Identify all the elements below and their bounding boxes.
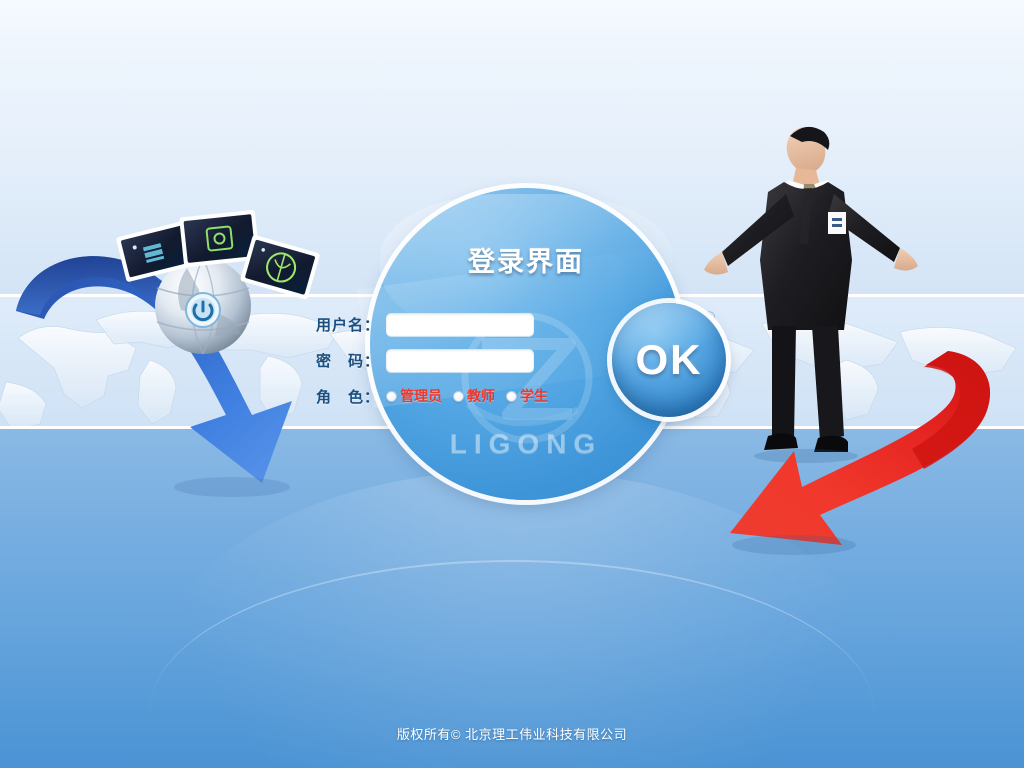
- ligong-wordmark: LIGONG: [370, 428, 682, 460]
- username-row: 用户名：: [300, 311, 534, 337]
- role-label: 角 色：: [300, 386, 386, 407]
- panel-title: 登录界面: [370, 240, 682, 279]
- role-radio-group: 管理员 教师 学生: [386, 386, 555, 406]
- role-option-admin[interactable]: 管理员: [386, 386, 442, 406]
- radio-dot-icon[interactable]: [386, 391, 397, 402]
- role-option-admin-label: 管理员: [400, 386, 442, 406]
- username-input[interactable]: [386, 313, 534, 336]
- radio-dot-icon[interactable]: [453, 391, 464, 402]
- role-option-student-label: 学生: [520, 386, 548, 406]
- username-label: 用户名：: [300, 314, 386, 335]
- password-input[interactable]: [386, 349, 534, 372]
- password-label: 密 码：: [300, 350, 386, 371]
- role-row: 角 色： 管理员 教师 学生: [300, 383, 555, 409]
- globe-monitors-graphic: [95, 210, 325, 370]
- login-screen: 登录界面 LIGONG 用户名： 密 码： 角 色： 管理员: [0, 0, 1024, 768]
- password-row: 密 码：: [300, 347, 534, 373]
- radio-dot-icon[interactable]: [506, 391, 517, 402]
- role-option-teacher[interactable]: 教师: [453, 386, 495, 406]
- role-option-student[interactable]: 学生: [506, 386, 548, 406]
- ok-button[interactable]: OK: [612, 303, 726, 417]
- role-option-teacher-label: 教师: [467, 386, 495, 406]
- footer-copyright: 版权所有© 北京理工伟业科技有限公司: [0, 724, 1024, 743]
